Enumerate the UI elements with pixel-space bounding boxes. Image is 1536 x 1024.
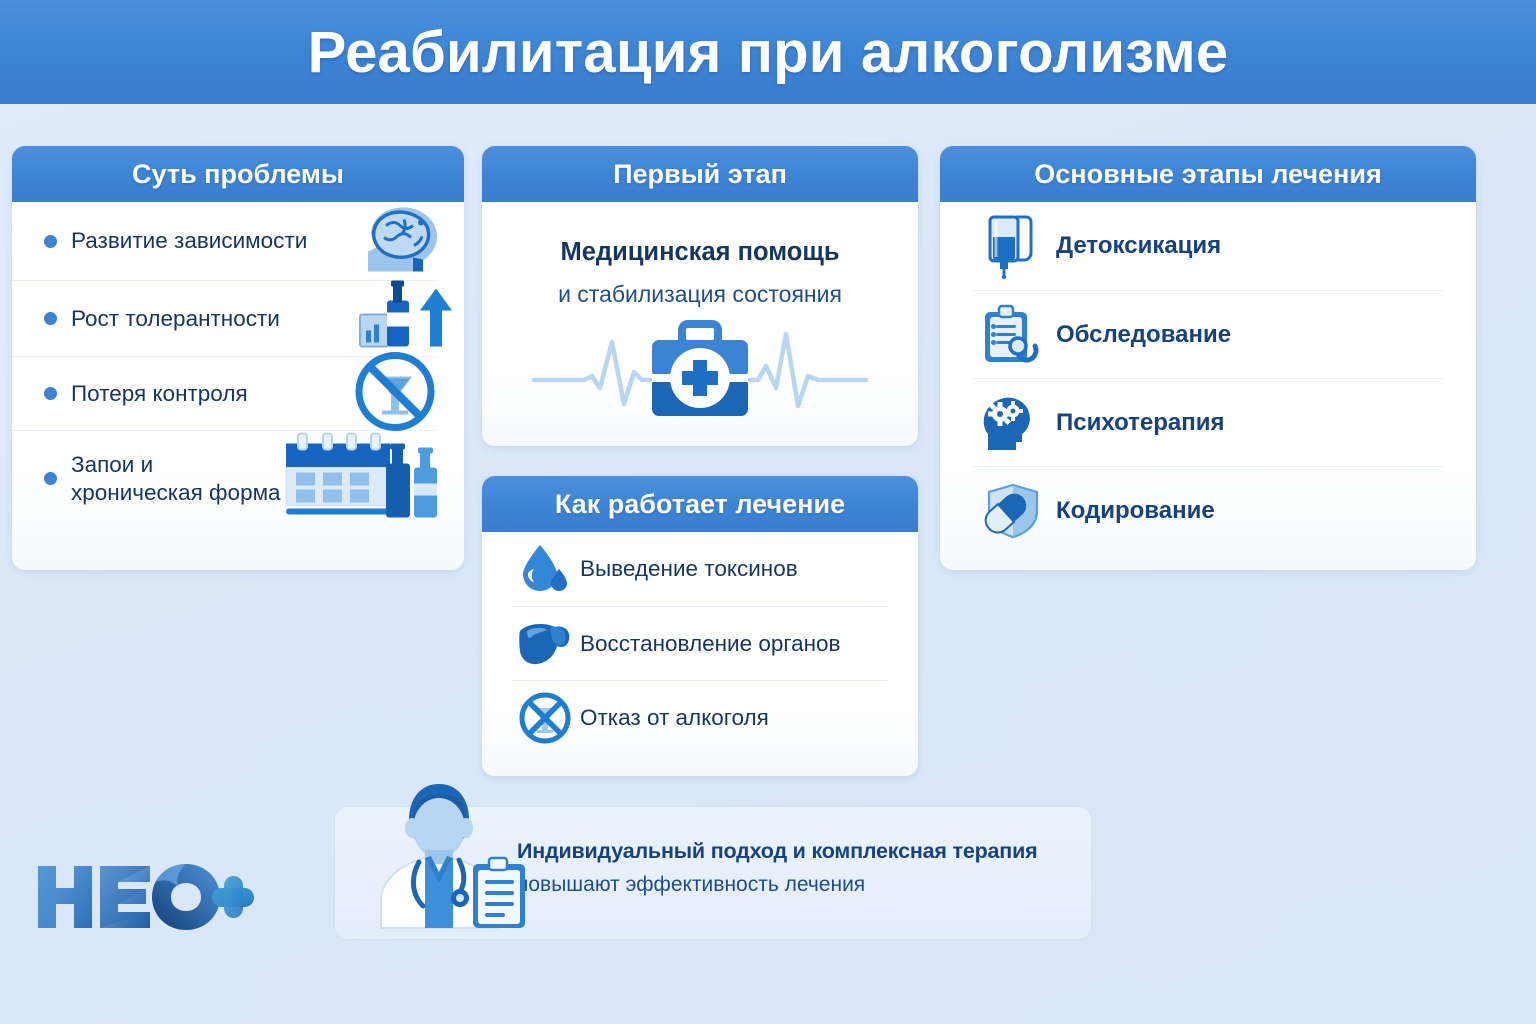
card-body-main-stages: Детоксикация Обследование (940, 202, 1476, 570)
liver-icon (516, 621, 574, 667)
list-item[interactable]: Обследование (974, 290, 1442, 378)
list-item[interactable]: Психотерапия (974, 378, 1442, 466)
first-aid-kit-ecg-icon (482, 318, 918, 428)
list-item-label: Детоксикация (1056, 232, 1221, 260)
card-header-first-stage: Первый этап (482, 146, 918, 202)
banner-line-2: повышают эффективность лечения (517, 873, 1077, 897)
banner-text-block: Индивидуальный подход и комплексная тера… (517, 839, 1077, 897)
bullet-icon (44, 312, 57, 325)
list-item-label: Рост толерантности (71, 305, 280, 332)
list-item[interactable]: Рост толерантности (12, 280, 438, 356)
bullet-icon (44, 387, 57, 400)
card-title-problem: Суть проблемы (132, 159, 344, 190)
card-title-first-stage: Первый этап (613, 159, 787, 190)
list-item-label: Выведение токсинов (580, 556, 798, 582)
water-drop-icon (516, 543, 574, 595)
card-how-treatment-works: Как работает лечение Выведение токсинов (482, 476, 918, 776)
problem-list: Развитие зависимости Рос (12, 202, 464, 526)
list-item-label-line2: хроническая форма (71, 480, 281, 505)
iv-drip-icon (974, 213, 1048, 279)
card-header-main-stages: Основные этапы лечения (940, 146, 1476, 202)
list-item-label: Потеря контроля (71, 380, 248, 407)
list-item[interactable]: Кодирование (974, 466, 1442, 554)
list-item-label: Запои и хроническая форма (71, 451, 281, 506)
card-title-main-stages: Основные этапы лечения (1034, 159, 1381, 190)
card-body-how-treatment: Выведение токсинов Восстановление органо… (482, 532, 918, 776)
list-item[interactable]: Потеря контроля (12, 356, 438, 430)
card-main-treatment-stages: Основные этапы лечения Детоксикация (940, 146, 1476, 570)
list-item-label: Психотерапия (1056, 409, 1225, 437)
list-item-label: Отказ от алкоголя (580, 705, 769, 731)
pill-shield-icon (974, 483, 1048, 539)
page-title: Реабилитация при алкоголизме (308, 19, 1229, 86)
first-stage-text-line1: Медицинская помощь (482, 202, 918, 267)
list-item[interactable]: Запои и хроническая форма (12, 430, 438, 526)
bottle-growth-chart-icon (356, 280, 452, 357)
header-banner: Реабилитация при алкоголизме (0, 0, 1536, 104)
banner-line-1: Индивидуальный подход и комплексная тера… (517, 839, 1077, 864)
list-item-label: Кодирование (1056, 497, 1215, 525)
bullet-icon (44, 235, 57, 248)
doctor-clipboard-icon (361, 778, 529, 935)
list-item-label: Обследование (1056, 321, 1231, 349)
bullet-icon (44, 472, 57, 485)
neo-plus-logo-icon (34, 858, 254, 936)
calendar-bottles-icon (278, 431, 444, 526)
clipboard-stethoscope-icon (974, 304, 1048, 366)
card-title-how-treatment: Как работает лечение (555, 489, 845, 520)
card-body-first-stage: Медицинская помощь и стабилизация состоя… (482, 202, 918, 446)
list-item-label-line1: Запои и (71, 452, 153, 477)
card-first-stage: Первый этап Медицинская помощь и стабили… (482, 146, 918, 446)
list-item-label: Развитие зависимости (71, 227, 307, 254)
list-item[interactable]: Детоксикация (974, 202, 1442, 290)
no-alcohol-glass-icon (352, 348, 438, 439)
list-item[interactable]: Выведение токсинов (512, 532, 888, 606)
brain-head-icon (360, 202, 452, 281)
first-stage-text-line2: и стабилизация состояния (482, 267, 918, 308)
no-alcohol-circle-icon (516, 691, 574, 745)
list-item[interactable]: Отказ от алкоголя (512, 680, 888, 754)
head-gears-icon (974, 392, 1048, 454)
card-header-problem: Суть проблемы (12, 146, 464, 202)
list-item[interactable]: Восстановление органов (512, 606, 888, 680)
card-problem-essence: Суть проблемы Развитие зависимости (12, 146, 464, 570)
card-header-how-treatment: Как работает лечение (482, 476, 918, 532)
brand-logo[interactable] (34, 858, 254, 936)
list-item[interactable]: Развитие зависимости (12, 202, 438, 280)
bottom-summary-banner: Индивидуальный подход и комплексная тера… (334, 806, 1092, 940)
list-item-label: Восстановление органов (580, 631, 841, 657)
card-body-problem: Развитие зависимости Рос (12, 202, 464, 570)
